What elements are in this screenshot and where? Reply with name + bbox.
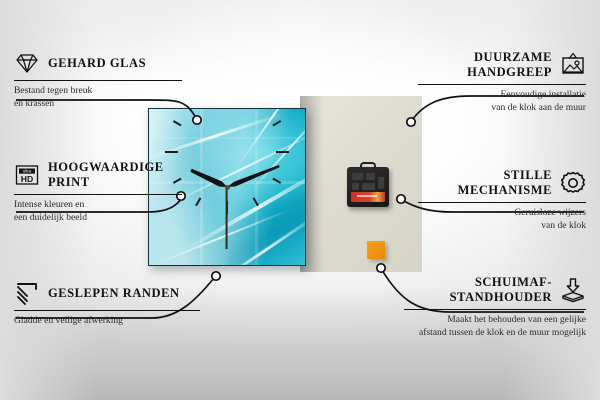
feature-description: Gladde en veilige afwerking — [14, 315, 200, 328]
feature-title: STILLE MECHANISME — [418, 168, 552, 198]
feature-divider — [14, 194, 182, 195]
feature-description: Eenvoudige installatie van de klok aan d… — [418, 89, 586, 114]
clock-hand-hub — [225, 185, 230, 190]
mechanism-hanger — [360, 162, 376, 169]
feature-divider — [404, 309, 586, 310]
feature-schuimaf-standhouder[interactable]: SCHUIMAF- STANDHOUDER Maakt het behouden… — [404, 275, 586, 339]
feature-duurzame-handgreep[interactable]: DUURZAME HANDGREEP Eenvoudige installati… — [418, 50, 586, 114]
feature-stille-mechanisme[interactable]: STILLE MECHANISME Geruisloze wijzers van… — [418, 168, 586, 232]
mechanism-battery — [351, 192, 385, 202]
picture-frame-icon — [560, 52, 586, 78]
feature-description: Intense kleuren en een duidelijk beeld — [14, 199, 182, 224]
feature-title: GESLEPEN RANDEN — [48, 286, 180, 301]
mechanism-detail — [352, 183, 359, 190]
clock-mechanism — [347, 167, 389, 207]
feature-header: ultra HD HOOGWAARDIGE PRINT — [14, 160, 182, 190]
feature-divider — [14, 80, 182, 81]
feature-divider — [418, 84, 586, 85]
foam-spacer — [367, 241, 385, 259]
mechanism-detail — [366, 173, 375, 180]
mechanism-detail — [378, 177, 384, 189]
press-down-icon — [560, 277, 586, 303]
feature-divider — [14, 310, 200, 311]
feature-gehard-glas[interactable]: GEHARD GLAS Bestand tegen breuk en krass… — [14, 50, 182, 111]
ultra-hd-icon: ultra HD — [14, 162, 40, 188]
feature-hoogwaardige-print[interactable]: ultra HD HOOGWAARDIGE PRINT Intense kleu… — [14, 160, 182, 224]
feature-header: GEHARD GLAS — [14, 50, 182, 76]
feature-header: STILLE MECHANISME — [418, 168, 586, 198]
feature-header: SCHUIMAF- STANDHOUDER — [404, 275, 586, 305]
feature-description: Geruisloze wijzers van de klok — [418, 207, 586, 232]
beveled-edges-icon — [14, 280, 40, 306]
feature-title: SCHUIMAF- STANDHOUDER — [404, 275, 552, 305]
feature-divider — [418, 202, 586, 203]
diamond-icon — [14, 50, 40, 76]
clock-second-hand — [226, 187, 228, 249]
feature-title: DUURZAME HANDGREEP — [418, 50, 552, 80]
feature-header: GESLEPEN RANDEN — [14, 280, 200, 306]
feature-header: DUURZAME HANDGREEP — [418, 50, 586, 80]
feature-title: GEHARD GLAS — [48, 56, 146, 71]
feature-description: Maakt het behouden van een gelijke afsta… — [404, 314, 586, 339]
mechanism-detail — [362, 183, 375, 190]
feature-description: Bestand tegen breuk en krassen — [14, 85, 182, 110]
mechanism-detail — [352, 173, 363, 180]
gear-icon — [560, 170, 586, 196]
svg-text:HD: HD — [21, 174, 33, 184]
product-infographic: GEHARD GLAS Bestand tegen breuk en krass… — [0, 0, 600, 400]
feature-geslepen-randen[interactable]: GESLEPEN RANDEN Gladde en veilige afwerk… — [14, 280, 200, 328]
feature-title: HOOGWAARDIGE PRINT — [48, 160, 182, 190]
